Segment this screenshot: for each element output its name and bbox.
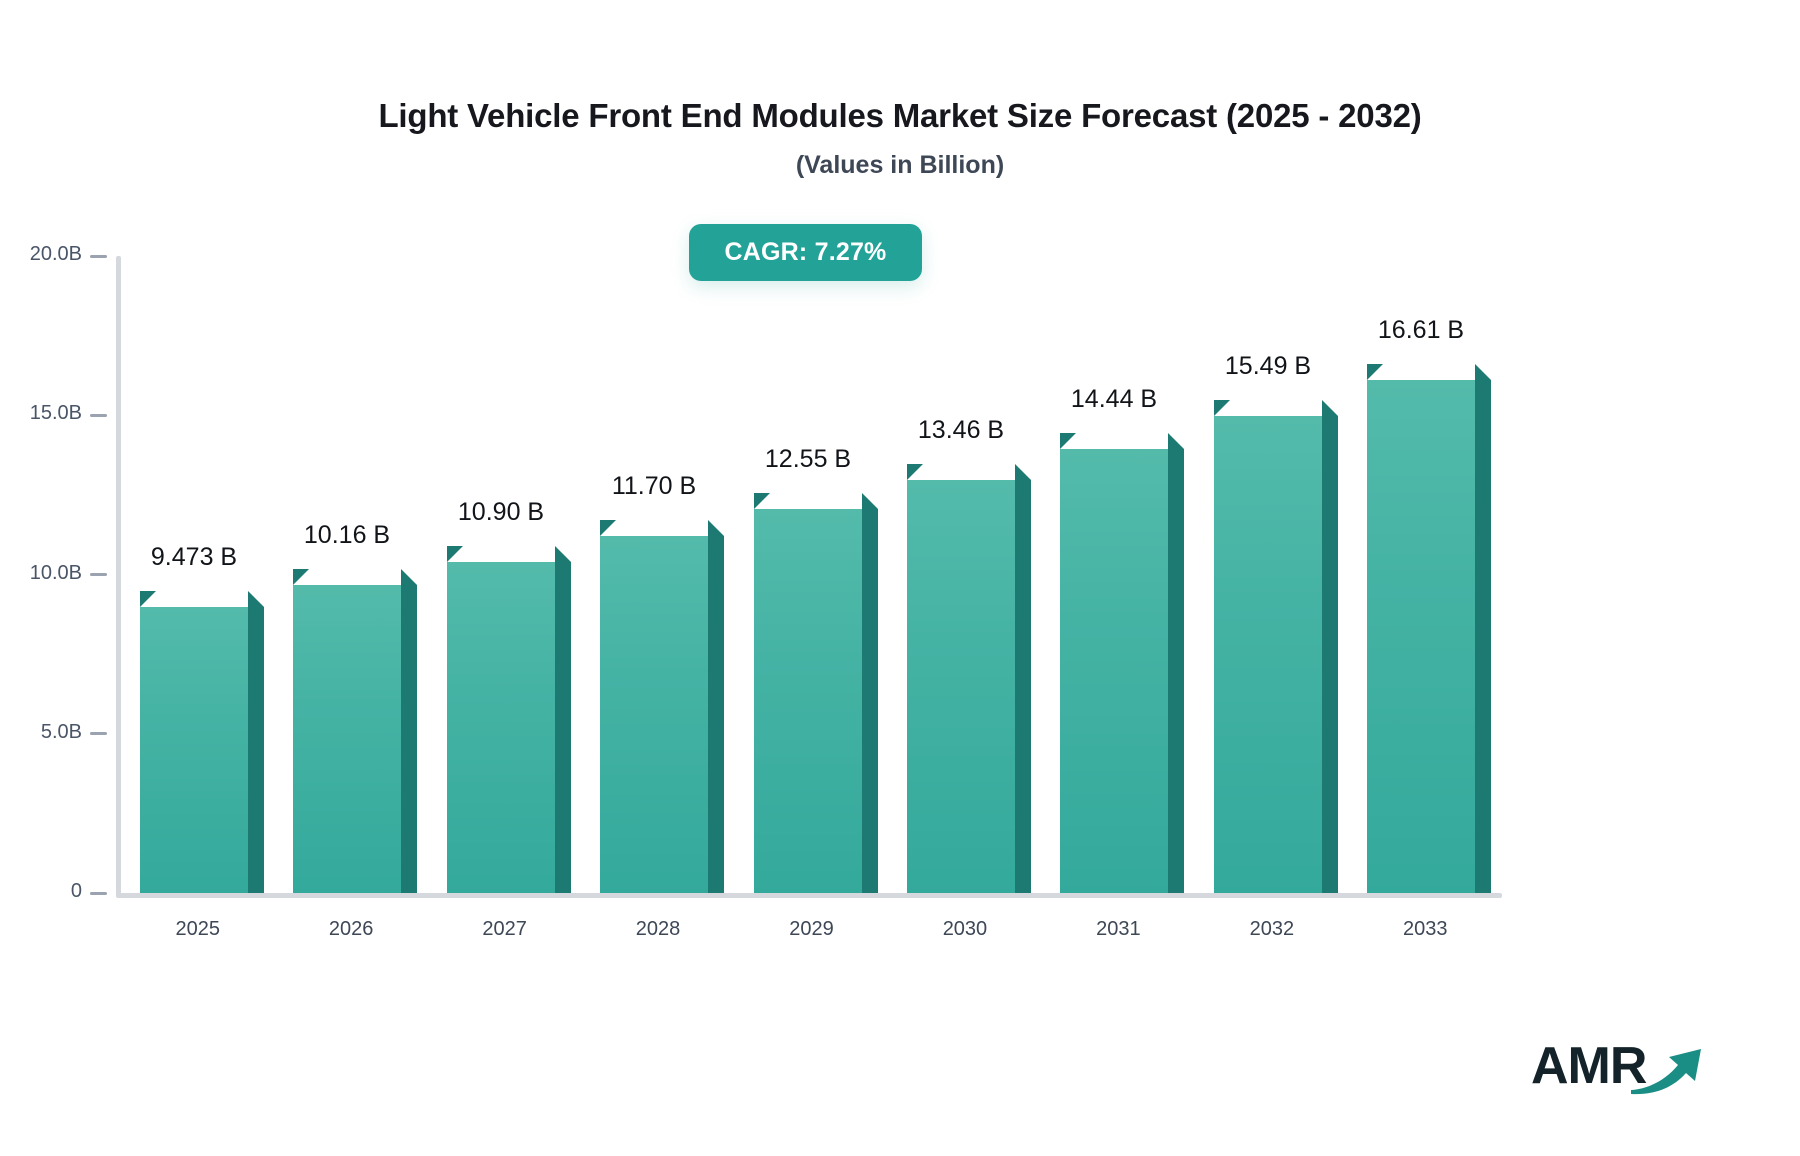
bar-value-label: 16.61 B [1316, 316, 1526, 345]
y-axis-tick-label: 20.0B [0, 243, 82, 266]
y-axis-tick-label: 0 [0, 880, 82, 903]
bar-left-bevel [1214, 400, 1230, 416]
bar-top-bevel [555, 546, 571, 562]
bar [140, 591, 264, 893]
bar-top-bevel [862, 493, 878, 509]
bar-left-bevel [293, 569, 309, 585]
growth-arrow-icon [1629, 1037, 1707, 1095]
bar-side-face [862, 509, 878, 893]
bar-top-bevel [1322, 400, 1338, 416]
bar-top-bevel [1168, 433, 1184, 449]
bar-value-label: 10.90 B [396, 498, 606, 527]
bar [754, 493, 878, 893]
bar-front-face [140, 607, 248, 893]
bar-value-label: 15.49 B [1163, 352, 1373, 381]
bar [1060, 433, 1184, 893]
bar-side-face [1168, 449, 1184, 893]
bar-left-bevel [754, 493, 770, 509]
x-axis-tick-label: 2033 [1345, 918, 1505, 941]
bar-front-face [754, 509, 862, 893]
y-axis-tick-mark [90, 573, 107, 576]
x-axis-tick-label: 2027 [425, 918, 585, 941]
bar-value-label: 11.70 B [549, 472, 759, 501]
x-axis-tick-label: 2029 [732, 918, 892, 941]
bar [447, 546, 571, 893]
amr-logo: AMR [1531, 1035, 1706, 1097]
bar-top-bevel [708, 520, 724, 536]
y-axis-tick-mark [90, 414, 107, 417]
chart-canvas: Light Vehicle Front End Modules Market S… [0, 0, 1800, 1156]
y-axis-tick-mark [90, 892, 107, 895]
bar-side-face [708, 536, 724, 893]
bar-side-face [248, 607, 264, 893]
y-axis-tick-label: 15.0B [0, 402, 82, 425]
bar [1367, 364, 1491, 893]
x-axis-tick-label: 2032 [1192, 918, 1352, 941]
bar-top-bevel [1015, 464, 1031, 480]
bar-left-bevel [1060, 433, 1076, 449]
x-axis-tick-label: 2030 [885, 918, 1045, 941]
bar-left-bevel [1367, 364, 1383, 380]
x-axis-tick-label: 2026 [271, 918, 431, 941]
bar-front-face [600, 536, 708, 893]
bar-side-face [401, 585, 417, 893]
y-axis-tick-mark [90, 255, 107, 258]
bar [600, 520, 724, 893]
bar-front-face [293, 585, 401, 893]
y-axis-line [116, 256, 121, 897]
bar-front-face [907, 480, 1015, 893]
x-axis-tick-label: 2031 [1038, 918, 1198, 941]
x-axis-tick-label: 2025 [118, 918, 278, 941]
bar-side-face [1015, 480, 1031, 893]
bar-front-face [447, 562, 555, 893]
plot-area: 20.0B15.0B10.0B5.0B0 9.473 B10.16 B10.90… [0, 0, 1800, 1156]
bar-top-bevel [1475, 364, 1491, 380]
bar-value-label: 12.55 B [703, 445, 913, 474]
bar-side-face [555, 562, 571, 893]
y-axis-tick-label: 10.0B [0, 562, 82, 585]
bar-front-face [1367, 380, 1475, 893]
bar-left-bevel [907, 464, 923, 480]
bar-left-bevel [600, 520, 616, 536]
bar [907, 464, 1031, 893]
bar-side-face [1475, 380, 1491, 893]
bar-front-face [1214, 416, 1322, 893]
y-axis-tick-label: 5.0B [0, 721, 82, 744]
bar-value-label: 13.46 B [856, 416, 1066, 445]
bar [293, 569, 417, 893]
bar-top-bevel [401, 569, 417, 585]
bar-side-face [1322, 416, 1338, 893]
bar-top-bevel [248, 591, 264, 607]
bar-value-label: 14.44 B [1009, 385, 1219, 414]
bar [1214, 400, 1338, 893]
bar-left-bevel [447, 546, 463, 562]
bar-front-face [1060, 449, 1168, 893]
x-axis-line [116, 893, 1502, 898]
y-axis-tick-mark [90, 732, 107, 735]
x-axis-tick-label: 2028 [578, 918, 738, 941]
bar-left-bevel [140, 591, 156, 607]
